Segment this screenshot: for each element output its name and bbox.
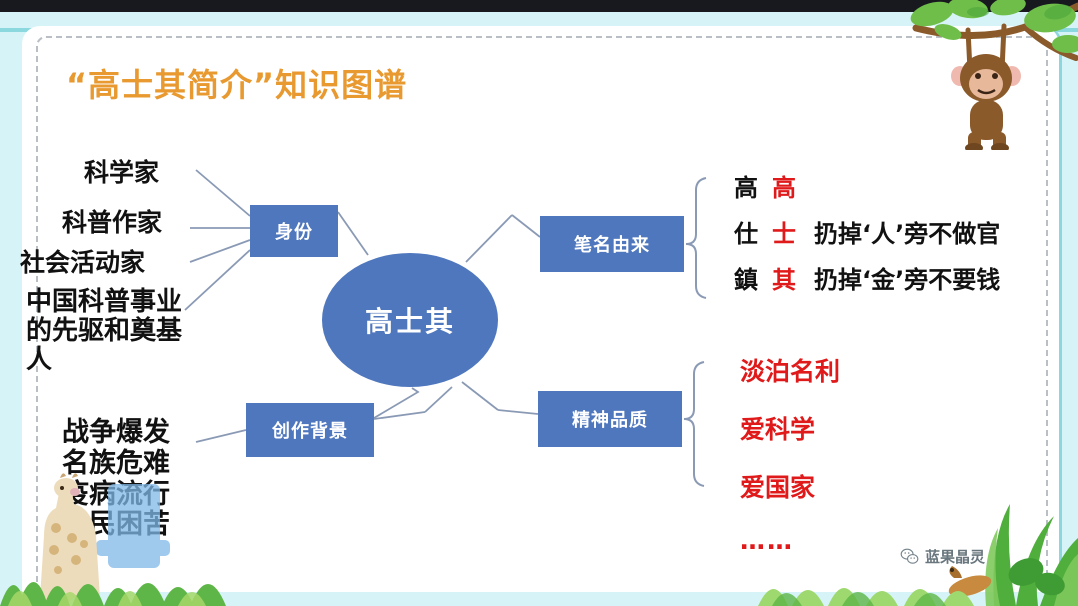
identity-item-scientist: 科学家	[84, 160, 159, 187]
penname-origin-list: 高 高 仕 士 扔掉‘人’旁不做官 鎮 其 扔掉‘金’旁不要钱	[734, 168, 1000, 306]
list-item: 仕 士 扔掉‘人’旁不做官	[734, 214, 1000, 249]
penname-original: 高	[734, 168, 772, 203]
list-item: 爱国家	[740, 468, 840, 504]
node-creation-background-label: 创作背景	[272, 417, 348, 443]
node-penname-origin[interactable]: 笔名由来	[540, 216, 684, 272]
penname-kept: 高	[772, 168, 814, 203]
center-node-gaoshiqi[interactable]: 高士其	[322, 253, 498, 387]
wechat-icon	[900, 547, 919, 566]
penname-note: 扔掉‘金’旁不要钱	[814, 260, 1000, 295]
node-penname-origin-label: 笔名由来	[574, 231, 650, 257]
list-item-ellipsis: ……	[740, 526, 840, 555]
watermark: 蓝果晶灵	[900, 546, 985, 567]
spiritual-qualities-list: 淡泊名利 爱科学 爱国家 ……	[740, 352, 840, 555]
list-item: 高 高	[734, 168, 1000, 203]
creation-background-text: 战争爆发名族危难疫病流行人民困苦	[62, 418, 170, 541]
node-spiritual-qualities[interactable]: 精神品质	[538, 391, 682, 447]
knowledge-graph: 高士其 身份 创作背景 笔名由来 精神品质 科学家 科普作家 社会活动家 中国科…	[0, 0, 1078, 606]
penname-kept: 士	[772, 214, 814, 249]
brace-penname	[686, 178, 706, 298]
slide-canvas: “高士其简介”知识图谱	[0, 0, 1078, 606]
center-node-label: 高士其	[365, 300, 455, 340]
watermark-text: 蓝果晶灵	[925, 546, 985, 567]
identity-item-popular-science-writer: 科普作家	[62, 210, 162, 237]
penname-note: 扔掉‘人’旁不做官	[814, 214, 1000, 249]
list-item: 鎮 其 扔掉‘金’旁不要钱	[734, 260, 1000, 295]
list-item: 淡泊名利	[740, 352, 840, 388]
penname-kept: 其	[772, 260, 814, 295]
node-spiritual-qualities-label: 精神品质	[572, 406, 648, 432]
node-creation-background[interactable]: 创作背景	[246, 403, 374, 457]
brace-spirit	[684, 362, 704, 486]
penname-original: 鎮	[734, 260, 772, 295]
node-identity-label: 身份	[275, 218, 313, 244]
list-item: 爱科学	[740, 410, 840, 446]
node-identity[interactable]: 身份	[250, 205, 338, 257]
identity-item-pioneer-founder: 中国科普事业的先驱和奠基人	[26, 288, 206, 375]
identity-item-social-activist: 社会活动家	[20, 250, 145, 277]
penname-original: 仕	[734, 214, 772, 249]
